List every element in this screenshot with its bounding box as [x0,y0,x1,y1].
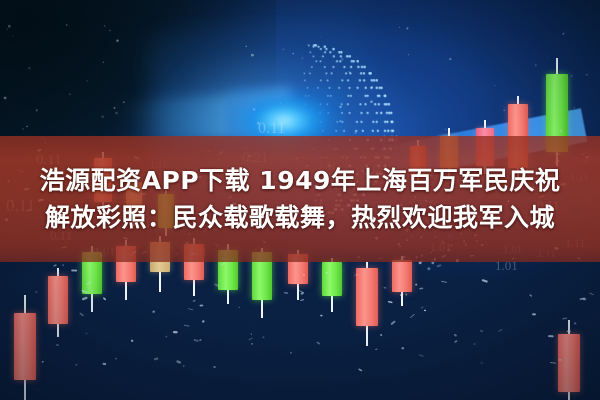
title-band: 浩源配资APP下载 1949年上海百万军民庆祝 解放彩照：民众载歌载舞，热烈欢迎… [0,136,600,262]
title-line-1: 浩源配资APP下载 1949年上海百万军民庆祝 [40,163,561,199]
title-line-2: 解放彩照：民众载歌载舞，热烈欢迎我军入城 [45,200,555,236]
banner-image: 0.110.110.111.111.011.110.110.211.113.11… [0,0,600,400]
